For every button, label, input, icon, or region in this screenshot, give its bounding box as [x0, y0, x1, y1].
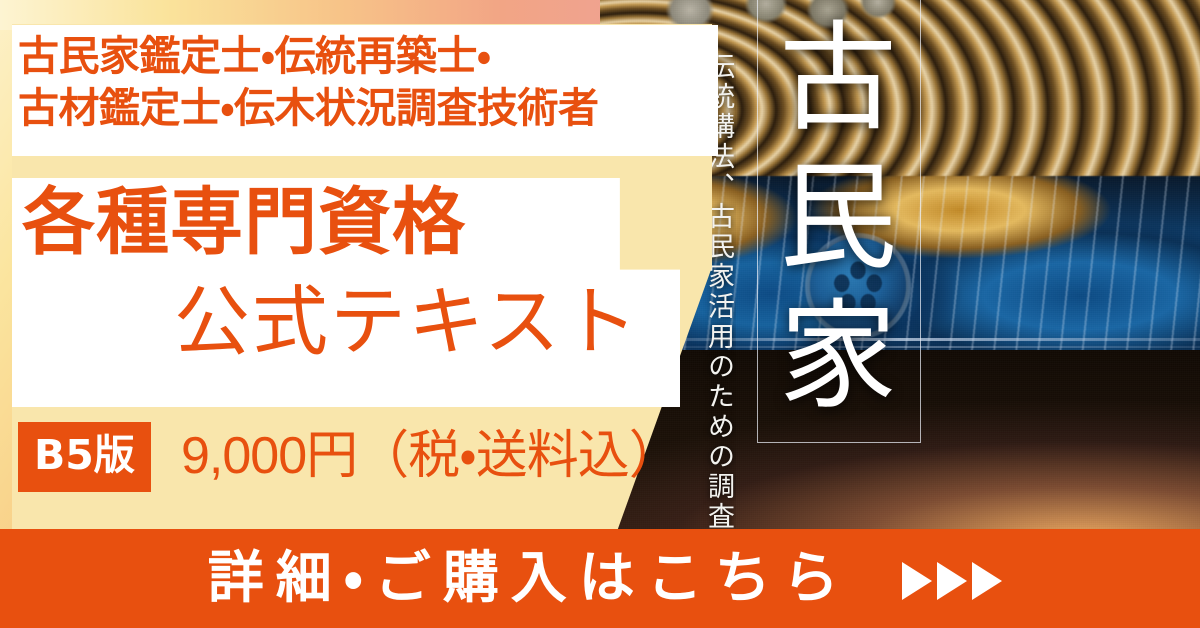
cta-bar[interactable]: 詳細・ご購入はこちら	[0, 529, 1200, 628]
cover-title: 古 民 家	[760, 10, 916, 428]
cover-title-char: 民	[760, 149, 916, 288]
format-badge: B5版	[18, 422, 151, 492]
cta-label-text: 詳細・ご購入はこちら	[208, 546, 851, 611]
main-title-line-1: 各種専門資格	[22, 186, 466, 259]
cover-title-char: 家	[760, 288, 916, 427]
triangle-right-icon	[902, 562, 932, 600]
cover-title-char: 古	[760, 10, 916, 149]
headline: 古民家鑑定士・伝統再築士・ 古材鑑定士・伝木状況調査技術者	[18, 30, 724, 135]
promo-banner: 古 民 家 伝統構法、古民家活用のための調査と再生の 古民家鑑定士・伝統再築士・…	[0, 0, 1200, 628]
triangle-right-icon	[972, 562, 1002, 600]
headline-line-2: 古材鑑定士・伝木状況調査技術者	[18, 82, 724, 134]
cta-label: 詳細・ご購入はこちら	[198, 551, 1003, 607]
triangle-right-icon	[937, 562, 967, 600]
price-text: 9,000円（税・送料込）	[181, 428, 680, 485]
cta-arrows	[902, 562, 1002, 600]
main-title-line-2: 公式テキスト	[174, 284, 640, 360]
headline-line-1: 古民家鑑定士・伝統再築士・	[18, 30, 724, 82]
